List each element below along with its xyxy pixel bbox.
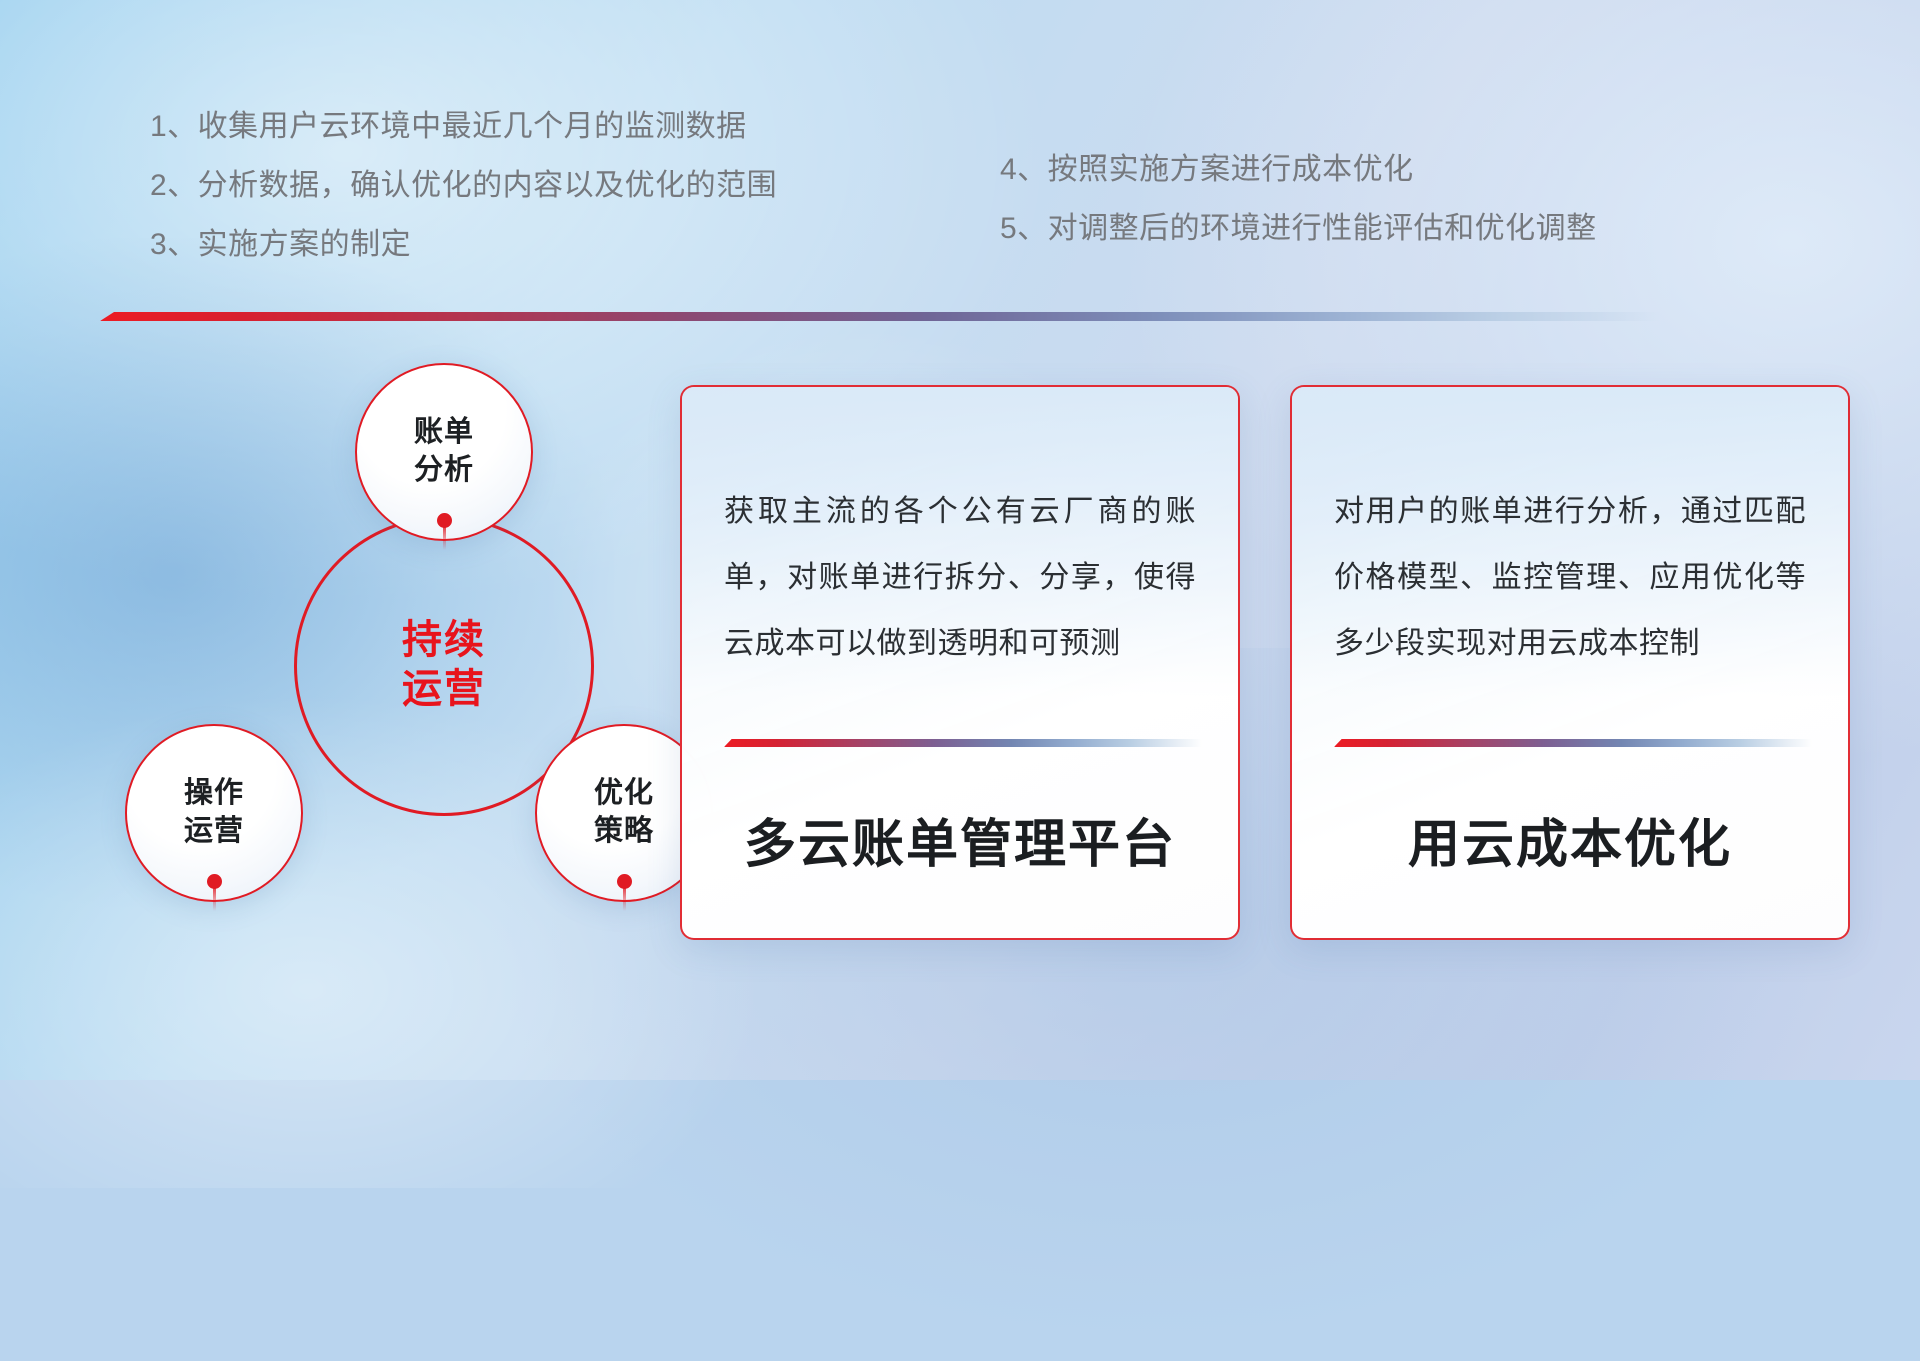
steps-column-right: 4、按照实施方案进行成本优化 5、对调整后的环境进行性能评估和优化调整 bbox=[1000, 155, 1597, 273]
step-item-2: 2、分析数据，确认优化的内容以及优化的范围 bbox=[150, 171, 777, 201]
feature-card-multicloud-billing[interactable]: 获取主流的各个公有云厂商的账单，对账单进行拆分、分享，使得云成本可以做到透明和可… bbox=[680, 385, 1240, 940]
section-divider bbox=[100, 312, 1660, 321]
card-title: 多云账单管理平台 bbox=[682, 802, 1238, 877]
card-divider bbox=[1334, 739, 1812, 747]
diagram-dot-icon bbox=[207, 874, 222, 889]
steps-section: 1、收集用户云环境中最近几个月的监测数据 2、分析数据，确认优化的内容以及优化的… bbox=[0, 0, 1920, 300]
step-item-3: 3、实施方案的制定 bbox=[150, 230, 777, 260]
feature-card-cost-optimization[interactable]: 对用户的账单进行分析，通过匹配价格模型、监控管理、应用优化等多少段实现对用云成本… bbox=[1290, 385, 1850, 940]
diagram-node-label: 优化策略 bbox=[594, 775, 654, 850]
card-title: 用云成本优化 bbox=[1292, 802, 1848, 877]
cycle-diagram: 账单分析 操作运营 优化策略 持续运营 bbox=[98, 352, 658, 952]
diagram-node-label: 操作运营 bbox=[184, 775, 244, 850]
card-description: 获取主流的各个公有云厂商的账单，对账单进行拆分、分享，使得云成本可以做到透明和可… bbox=[724, 479, 1196, 677]
diagram-center-label: 持续运营 bbox=[294, 616, 594, 714]
diagram-dot-icon bbox=[437, 513, 452, 528]
card-divider bbox=[724, 739, 1202, 747]
step-item-4: 4、按照实施方案进行成本优化 bbox=[1000, 155, 1597, 185]
card-description: 对用户的账单进行分析，通过匹配价格模型、监控管理、应用优化等多少段实现对用云成本… bbox=[1334, 479, 1806, 677]
diagram-node-label: 账单分析 bbox=[414, 414, 474, 489]
step-item-1: 1、收集用户云环境中最近几个月的监测数据 bbox=[150, 112, 777, 142]
steps-column-left: 1、收集用户云环境中最近几个月的监测数据 2、分析数据，确认优化的内容以及优化的… bbox=[150, 112, 777, 289]
step-item-5: 5、对调整后的环境进行性能评估和优化调整 bbox=[1000, 214, 1597, 244]
diagram-dot-icon bbox=[617, 874, 632, 889]
